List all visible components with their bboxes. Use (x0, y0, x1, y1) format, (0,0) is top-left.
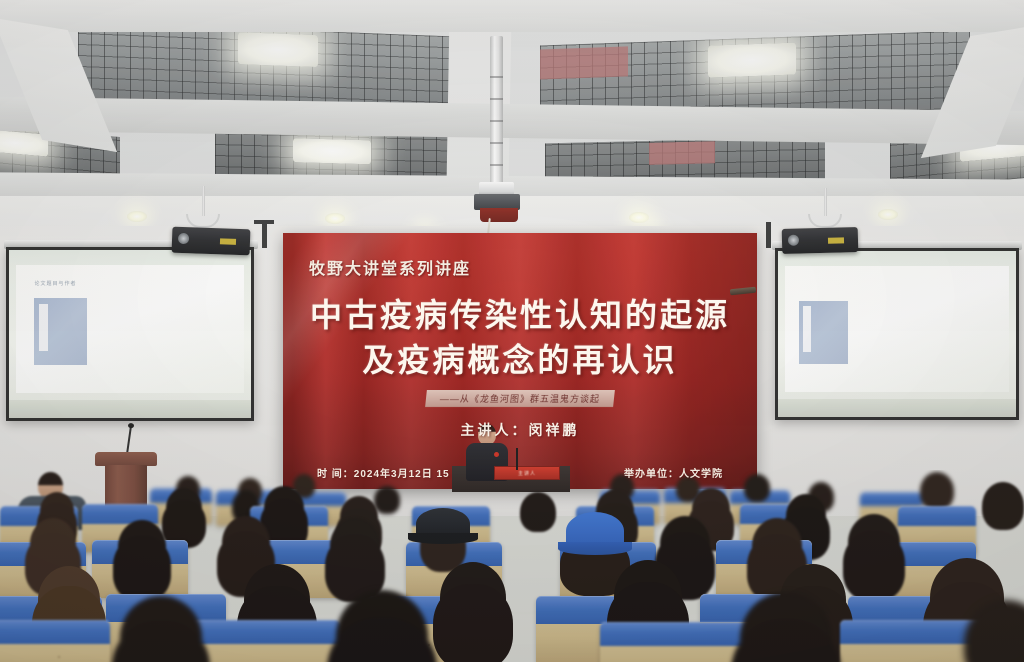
seat-cushion (190, 620, 340, 644)
left-wall-bracket (262, 222, 267, 248)
audience-person (222, 516, 270, 570)
pole-band (490, 76, 503, 78)
right-projector-lens (788, 235, 799, 246)
audience-person (264, 486, 304, 530)
pole-band (490, 120, 503, 122)
banner-title-line2: 及疫病概念的再认识 (283, 335, 757, 381)
ceiling-beam-top (0, 0, 1024, 32)
seat[interactable] (600, 622, 750, 662)
audience-person-with-dark-cap (416, 508, 470, 548)
right-slide (785, 266, 1009, 392)
left-slide-title: 论文题目与作者 (34, 280, 76, 287)
seat[interactable] (190, 620, 340, 662)
audience-person (118, 520, 166, 574)
right-wall-bracket (766, 222, 771, 248)
ceiling-light-panel (708, 43, 796, 78)
pole-band (490, 98, 503, 100)
ceiling-light-panel (238, 32, 318, 67)
right-projector (782, 227, 859, 254)
cap-brim (408, 533, 477, 544)
left-screen-surface: 论文题目与作者 (9, 250, 251, 418)
person-head (982, 482, 1024, 530)
ceiling-red-panel (649, 141, 715, 165)
seat[interactable] (0, 620, 110, 662)
audience-person (964, 600, 1024, 662)
event-banner: 牧野大讲堂系列讲座 中古疫病传染性认知的起源 及疫病概念的再认识 ——从《龙鱼河… (283, 233, 757, 489)
seat-cushion (0, 620, 110, 644)
projector-red-shroud (480, 208, 518, 222)
cap-brim (558, 542, 632, 555)
recessed-downlight (629, 212, 649, 223)
banner-footer: 时 间：2024年3月12日 15 举办单位：人文学院 (283, 465, 757, 480)
right-screen-bottom-bar (778, 399, 1016, 417)
seat-cushion (860, 492, 922, 506)
left-slide-image-block (34, 298, 86, 364)
left-projector-lens (178, 233, 189, 244)
person-hair (843, 531, 905, 601)
right-projector-label (828, 237, 844, 243)
person-hair (113, 536, 171, 601)
projector-mount-pole (490, 36, 503, 186)
audience-person (30, 518, 76, 570)
audience-person (120, 596, 202, 662)
audience-person (330, 518, 380, 574)
banner-time-label: 时 间：2024年3月12日 15 (317, 465, 450, 480)
banner-subtitle: ——从《龙鱼河图》群五温鬼方谈起 (425, 390, 615, 407)
left-slide: 论文题目与作者 (16, 265, 243, 393)
lectern-top (95, 452, 157, 466)
left-projection-screen: 论文题目与作者 (6, 247, 254, 421)
right-screen-surface (778, 251, 1016, 417)
left-screen-bottom-bar (9, 400, 251, 418)
lecture-hall-photo: 论文题目与作者 牧野大讲堂系列讲座 中古疫病传染性认知的起源 及疫 (0, 0, 1024, 662)
recessed-downlight (325, 213, 345, 224)
baseball-cap-dark (416, 508, 470, 540)
seat-speck (58, 656, 60, 658)
banner-title-line1: 中古疫病传染性认知的起源 (283, 290, 757, 336)
right-projector-arm (824, 188, 827, 216)
recessed-downlight (878, 209, 898, 220)
ceiling-light-panel (293, 138, 371, 164)
audience-person (520, 492, 556, 532)
left-projector (172, 227, 251, 256)
pole-band (490, 164, 503, 166)
banner-organizer-label: 举办单位：人文学院 (624, 465, 723, 480)
audience-person (336, 590, 428, 662)
audience-person (440, 562, 506, 634)
audience-person (740, 592, 832, 662)
person-hair (433, 584, 512, 662)
person-head (520, 492, 556, 532)
seat-cushion (898, 506, 976, 526)
left-wall-bracket-arm (254, 220, 274, 224)
audience-person (166, 488, 202, 528)
person-head (920, 472, 954, 510)
audience-seating-area: 5 (0, 470, 1024, 662)
audience-person (982, 482, 1024, 530)
left-projector-label (220, 238, 236, 245)
right-projection-screen (775, 248, 1019, 420)
recessed-downlight (127, 211, 147, 222)
right-slide-image-block (799, 301, 848, 364)
baseball-cap (566, 512, 624, 550)
left-projector-arm (202, 186, 205, 216)
ceiling-red-panel (540, 46, 628, 79)
seat-cushion (600, 622, 750, 646)
audience-person (848, 514, 900, 572)
banner-speaker-line: 主讲人：闵祥鹏 (283, 420, 757, 440)
audience-person (920, 472, 954, 510)
banner-series-label: 牧野大讲堂系列讲座 (309, 255, 471, 279)
pole-band (490, 142, 503, 144)
person-head (964, 600, 1024, 662)
